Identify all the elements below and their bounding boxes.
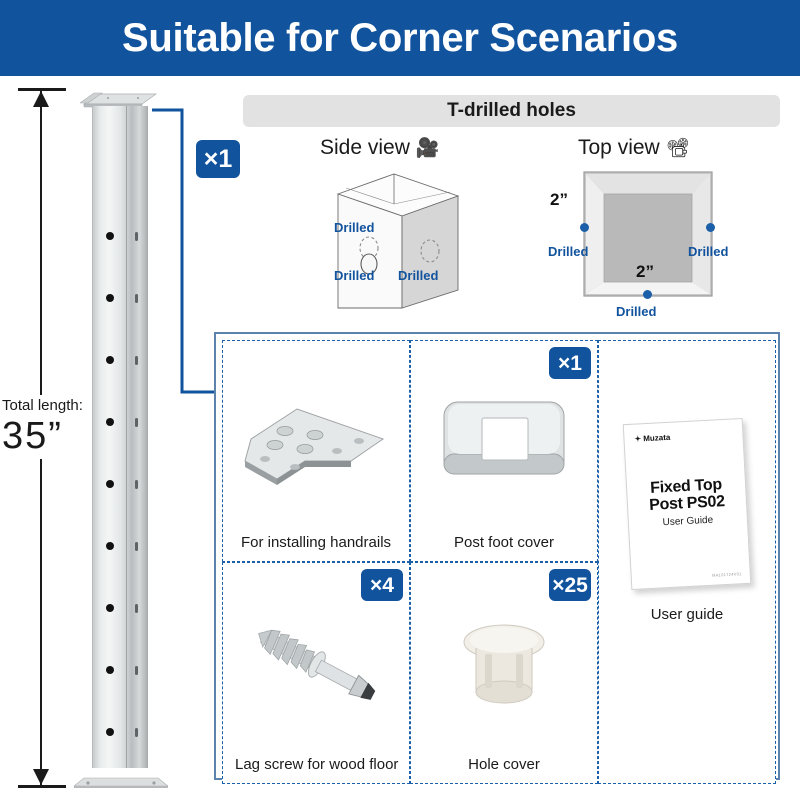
post-base-plate-icon [74, 766, 168, 788]
drilled-label: Drilled [334, 268, 374, 283]
accessory-cell-user-guide: ✦ Muzata Fixed Top Post PS02 User Guide … [598, 340, 776, 784]
header-banner: Suitable for Corner Scenarios [0, 0, 800, 76]
user-guide-art: ✦ Muzata Fixed Top Post PS02 User Guide … [599, 375, 775, 633]
guide-subtitle: User Guide [637, 513, 739, 529]
drilled-dot [580, 223, 589, 232]
post-hole [106, 666, 114, 674]
post-side-slot [135, 356, 138, 365]
post-side-slot [135, 418, 138, 427]
post-side-slot [135, 542, 138, 551]
movie-camera-icon: 🎥 [416, 139, 440, 158]
drilled-label: Drilled [334, 220, 374, 235]
muzata-diamond-icon: ✦ [634, 434, 641, 443]
infographic-page: Suitable for Corner Scenarios Total leng… [0, 0, 800, 800]
guide-title: Fixed Top Post PS02 [635, 475, 739, 514]
accessory-cell-post-foot-cover: ×1 Post foot cover [410, 340, 598, 562]
drilled-dot [643, 290, 652, 299]
post-side-slot [135, 294, 138, 303]
post-corner-seam [126, 106, 127, 768]
post-hole [106, 728, 114, 736]
post-hole [106, 356, 114, 364]
post-illustration [88, 92, 158, 788]
drilled-label: Drilled [688, 244, 728, 259]
post-side-slot [135, 480, 138, 489]
post-side-slot [135, 604, 138, 613]
post-hole [106, 418, 114, 426]
projector-icon: 📽 [666, 139, 690, 158]
post-body [92, 106, 148, 768]
accessory-cell-hole-cover: ×25 Hole cover [410, 562, 598, 784]
accessory-caption: Lag screw for wood floor [235, 756, 403, 773]
top-view-label: Top view 📽 [578, 136, 690, 160]
side-view-figure: Drilled Drilled Drilled [316, 168, 484, 316]
user-guide-sheet: ✦ Muzata Fixed Top Post PS02 User Guide … [623, 418, 752, 590]
post-hole [106, 232, 114, 240]
dimension-label: 2” [550, 190, 568, 210]
post-foot-cover-art [411, 367, 597, 517]
brand-logo: ✦ Muzata [634, 433, 670, 444]
post-hole [106, 604, 114, 612]
hole-cover-icon [449, 614, 559, 714]
accessory-cell-lag-screw: ×4 [222, 562, 410, 784]
post-corner-3d-icon [316, 168, 484, 316]
side-view-label: Side view 🎥 [320, 136, 440, 160]
post-hole [106, 294, 114, 302]
post-side-slot [135, 666, 138, 675]
accessory-caption: User guide [605, 606, 769, 623]
side-view-text: Side view [320, 136, 410, 160]
top-view-text: Top view [578, 136, 660, 160]
lag-screw-icon [241, 614, 391, 714]
t-drilled-holes-banner: T-drilled holes [243, 95, 780, 127]
post-hole [106, 480, 114, 488]
handrail-plate-icon [241, 387, 391, 497]
page-title: Suitable for Corner Scenarios [122, 16, 678, 61]
drilled-dot [706, 223, 715, 232]
post-hole [106, 542, 114, 550]
brand-name: Muzata [643, 433, 671, 443]
dimension-arrow-down-icon [33, 769, 49, 785]
dimension-tick-bottom [18, 785, 66, 788]
accessory-cell-handrail-plate: For installing handrails [222, 340, 410, 562]
hole-cover-art [411, 589, 597, 739]
post-foot-cover-icon [438, 392, 570, 492]
lag-screw-art [223, 589, 409, 739]
post-side-slot [135, 728, 138, 737]
guide-code: MA101724V01 [712, 571, 742, 578]
drilled-label: Drilled [548, 244, 588, 259]
drilled-label: Drilled [398, 268, 438, 283]
accessories-grid: For installing handrails ×1 Post foot co… [214, 332, 780, 780]
t-drilled-holes-title: T-drilled holes [447, 100, 576, 122]
dimension-label: 2” [636, 262, 654, 282]
top-view-figure: 2” 2” Drilled Drilled Drilled [540, 168, 770, 328]
handrail-plate-art [223, 367, 409, 517]
accessory-caption: For installing handrails [229, 534, 403, 551]
post-side-slot [135, 232, 138, 241]
drilled-label: Drilled [616, 304, 656, 319]
dimension-arrow-up-icon [33, 91, 49, 107]
accessory-caption: Hole cover [417, 756, 591, 773]
accessory-caption: Post foot cover [417, 534, 591, 551]
